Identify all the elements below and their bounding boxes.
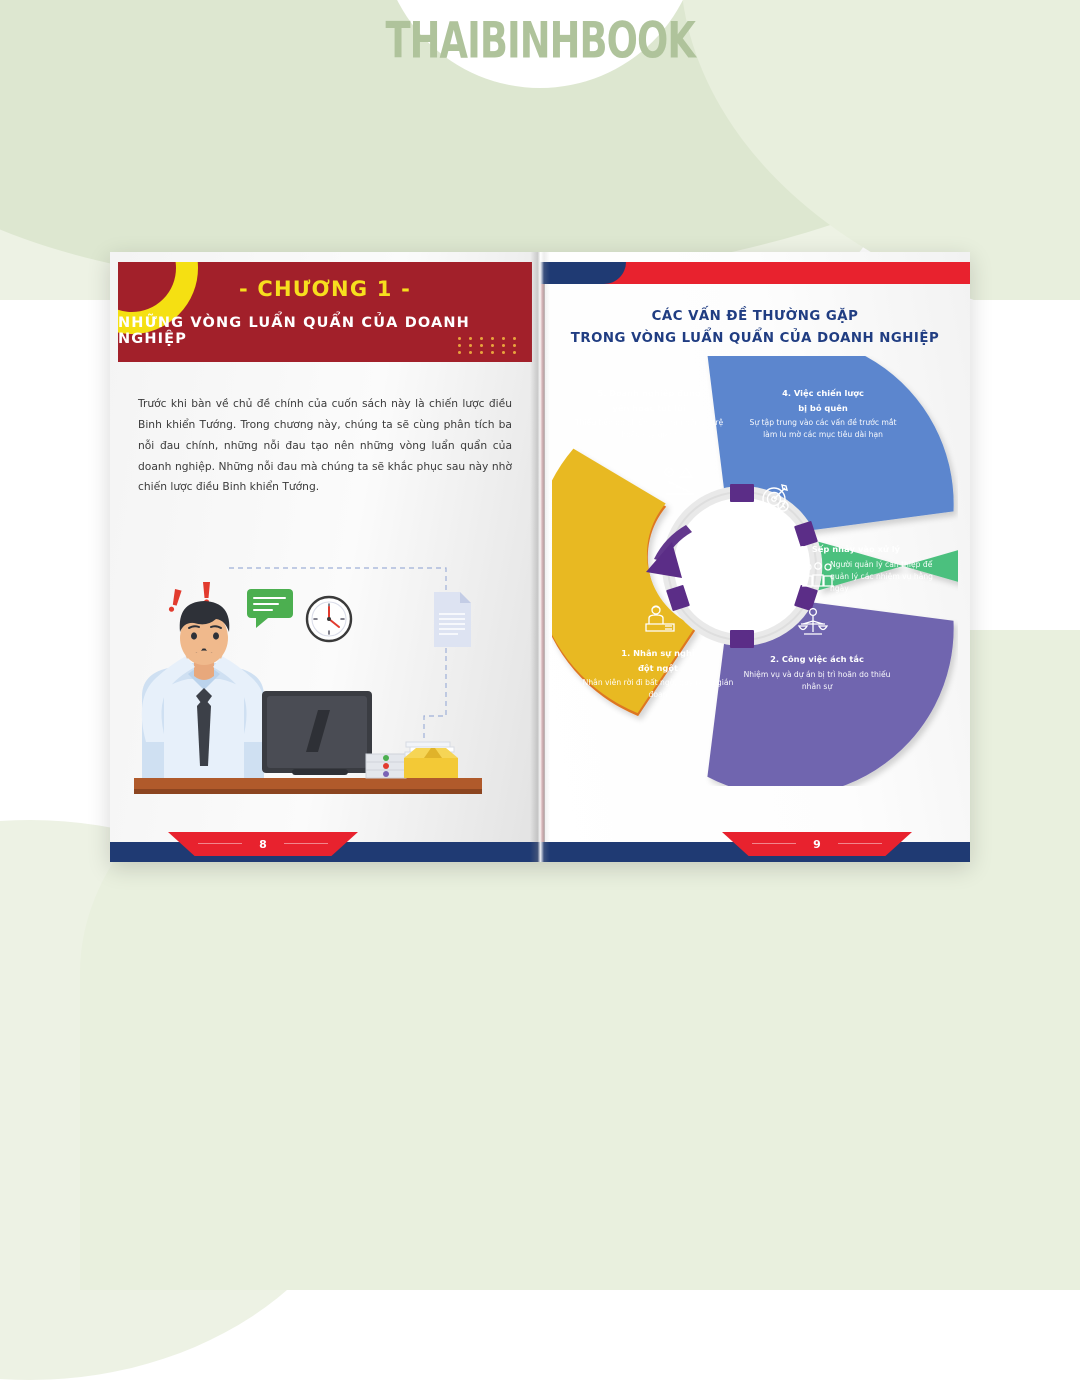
declining-bar-chart-icon — [662, 466, 698, 496]
chapter-title: NHỮNG VÒNG LUẨN QUẨN CỦA DOANH NGHIỆP — [118, 315, 532, 347]
binder-stack — [366, 754, 406, 778]
page-number-left-value: 8 — [259, 838, 267, 851]
team-group-icon — [802, 562, 834, 588]
person-at-desk-icon — [644, 604, 676, 634]
page-inner-edge — [540, 262, 545, 858]
page-number-right-value: 9 — [813, 838, 821, 851]
desk-surface — [134, 778, 482, 789]
cardboard-box — [404, 748, 458, 778]
computer-monitor — [262, 691, 372, 775]
chapter-body-paragraph: Trước khi bàn về chủ đề chính của cuốn s… — [138, 394, 512, 498]
cycle-donut-chart: 5. Doanh nghiệp đứng yên hoặc tụt lùi Th… — [552, 356, 958, 786]
document-icon — [434, 592, 471, 647]
segment-3-green[interactable] — [818, 542, 958, 591]
book-page-right: CÁC VẤN ĐỀ THƯỜNG GẶP TRONG VÒNG LUẨN QU… — [540, 252, 970, 862]
speech-bubble-icon — [247, 589, 293, 628]
cycle-donut-svg — [552, 356, 958, 786]
open-book: - CHƯƠNG 1 - NHỮNG VÒNG LUẨN QUẨN CỦA DO… — [110, 252, 970, 862]
stressed-office-worker-illustration — [134, 556, 524, 816]
balance-scale-icon — [798, 608, 828, 640]
wall-clock-icon — [307, 597, 351, 641]
page-title: CÁC VẤN ĐỀ THƯỜNG GẶP TRONG VÒNG LUẨN QU… — [540, 306, 970, 349]
page-number-right: 9 — [722, 832, 912, 856]
brand-logo-text: THAIBINHBOOK — [385, 12, 695, 70]
chapter-eyebrow: - CHƯƠNG 1 - — [239, 277, 411, 301]
stressed-man-figure — [142, 601, 266, 778]
hub-inner-disc — [674, 498, 810, 634]
chapter-header-banner: - CHƯƠNG 1 - NHỮNG VÒNG LUẨN QUẨN CỦA DO… — [118, 262, 532, 362]
page-number-left: 8 — [168, 832, 358, 856]
left-page-footer: 8 — [110, 832, 540, 862]
page-title-line2: TRONG VÒNG LUẨN QUẨN CỦA DOANH NGHIỆP — [540, 328, 970, 350]
page-title-line1: CÁC VẤN ĐỀ THƯỜNG GẶP — [540, 306, 970, 328]
right-page-footer: 9 — [540, 832, 970, 862]
target-clock-icon — [760, 482, 792, 512]
right-page-topbar — [540, 262, 970, 284]
topbar-navy-tab — [540, 262, 626, 284]
book-page-left: - CHƯƠNG 1 - NHỮNG VÒNG LUẨN QUẨN CỦA DO… — [110, 252, 540, 862]
